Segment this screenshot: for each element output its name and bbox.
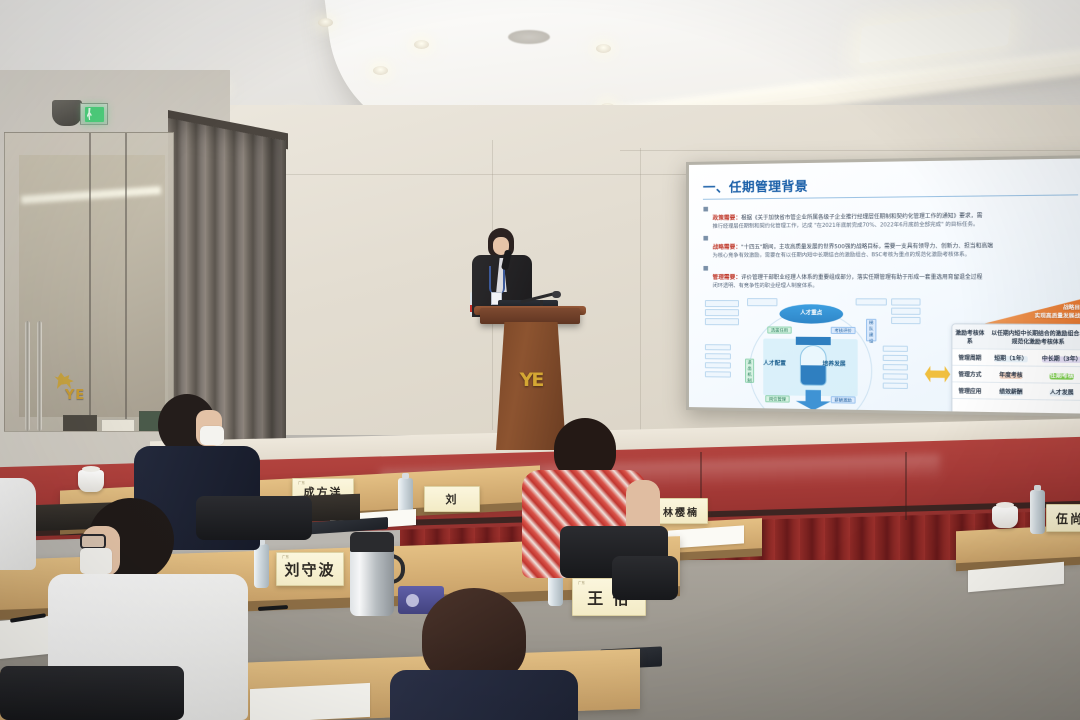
bullet-text: "十四五"期间，主攻高质量发展的世界500强的战略目标，需要一支具有领导力、创新…: [741, 244, 993, 251]
downlight: [414, 40, 429, 49]
namecard-org: 广东: [578, 581, 585, 586]
table-cell: 年度考核: [999, 372, 1022, 379]
side-box: [883, 374, 908, 380]
table-cell: 绩效薪酬: [999, 389, 1022, 396]
attendee-torso: [0, 478, 36, 570]
name-card-text: 林樱楠: [663, 504, 699, 519]
water-bottle: [1030, 490, 1045, 534]
side-box: [705, 353, 731, 359]
stage-seam: [905, 452, 907, 520]
name-card-text: 伍尚: [1056, 510, 1080, 527]
attendee-torso: [390, 670, 578, 720]
tea-cup: [992, 506, 1018, 528]
title-underline: [703, 194, 1078, 199]
bullet-dash-icon: ■: [703, 205, 709, 232]
diagram-tag: 选拔任用: [767, 327, 791, 334]
side-box: [883, 364, 908, 370]
side-box: [891, 299, 920, 306]
bullet-subtext: 推行经理层任期制和契约化管理工作，达成 "在2021年底前完成70%、2022年…: [713, 221, 1080, 232]
slide-title: 一、任期管理背景: [703, 171, 1080, 196]
banner-line-2: 实现高质量发展战略: [1035, 313, 1080, 321]
table-row: 管理方式 年度考核 任期考核: [952, 366, 1080, 384]
slide-bullet: ■ 战略需要："十四五"期间，主攻高质量发展的世界500强的战略目标，需要一支具…: [703, 232, 1080, 261]
strategy-banner-text: 战略目标 实现高质量发展战略: [1035, 305, 1080, 321]
downlight: [596, 44, 611, 53]
chair[interactable]: [612, 556, 678, 600]
table-row-header: 激励考核体系: [952, 325, 987, 350]
bullet-subtext: 闭环透明、有竞争性的职业经理人制度体系。: [713, 283, 1080, 291]
name-card-text: 刘: [446, 491, 459, 507]
slide-body: 人才重点 人才配置 培养发展 日常管理 选拔任用 考核评价 岗位管理 薪酬激励 …: [703, 296, 1080, 414]
projection-screen-frame: 一、任期管理背景 ■ 政策需要：根据《关于加快省市管企业所属各级子企业推行经理层…: [686, 155, 1080, 417]
side-box: [705, 344, 731, 350]
gooseneck-mic-head: [552, 291, 561, 298]
diagram-tag: 考核评价: [831, 327, 856, 334]
slide-bullet: ■ 管理需要：评价管理干部职业经理人体系的重要组成部分，落实任期管理有助于形成一…: [703, 263, 1080, 291]
table-header-value: 以任期内短中长期结合的激励组合、规范化激励考核体系: [987, 325, 1080, 350]
table-cell: 短期（1年）: [994, 356, 1027, 363]
diagram-right-label: 培养发展: [822, 360, 845, 368]
bullet-lead: 管理需要：: [713, 275, 742, 281]
diagram-tag: 梯队建设: [866, 319, 876, 342]
side-box: [891, 317, 920, 324]
side-box: [883, 355, 908, 361]
namecard-org: 广东: [298, 481, 305, 486]
talent-cycle-diagram: 人才重点 人才配置 培养发展 日常管理 选拔任用 考核评价 岗位管理 薪酬激励 …: [703, 296, 924, 414]
bullet-text: 根据《关于加快省市管企业所属各级子企业推行经理层任期制和契约化管理工作的通知》要…: [741, 213, 982, 221]
wall-seam: [620, 150, 1080, 151]
projection-screen: 一、任期管理背景 ■ 政策需要：根据《关于加快省市管企业所属各级子企业推行经理层…: [689, 158, 1080, 414]
eyeglasses: [80, 534, 106, 549]
incentive-panel: 战略目标 实现高质量发展战略 激励考核体系 以任期内短中长期结合的激励组合、规范…: [951, 297, 1080, 414]
bullet-dash-icon: ■: [703, 264, 709, 290]
face-mask: [200, 426, 224, 445]
showcase-brand-label: YE: [65, 388, 117, 408]
bullet-lead: 战略需要：: [713, 245, 742, 251]
namecard-org: 广东: [282, 555, 289, 560]
banner-line-1: 战略目标: [1035, 305, 1080, 313]
bullet-text: 评价管理干部职业经理人体系的重要组成部分，落实任期管理有助于形成一套重选用育留退…: [741, 274, 982, 280]
diagram-tag: 岗位管理: [765, 395, 789, 402]
conference-room-photo: YE 一、任期管理背景 ■ 政策需要：根据《关于加快省市管企业所属各级子企业推行…: [0, 0, 1080, 720]
diagram-tag: 退出机制: [745, 359, 754, 383]
table-cell: 中长期（3年）: [1042, 356, 1080, 363]
side-box: [705, 309, 739, 316]
side-box: [747, 298, 777, 306]
lanyard: [489, 266, 505, 294]
water-bottle: [254, 544, 269, 588]
downlight: [318, 18, 333, 27]
diagram-left-label: 人才配置: [763, 359, 786, 367]
name-card: 广东 刘守波: [276, 552, 344, 586]
table-row: 管理应用 绩效薪酬 人才发展: [952, 382, 1080, 401]
showcase-poster: [101, 419, 135, 432]
tea-cup: [78, 470, 104, 492]
showcase-poster: [63, 415, 97, 432]
door-handle[interactable]: [37, 321, 42, 431]
name-card: 伍尚: [1046, 504, 1080, 532]
bullet-dash-icon: ■: [703, 234, 709, 261]
link-arrow: [924, 297, 952, 414]
double-arrow-icon: [925, 366, 950, 383]
wall-seam: [640, 148, 641, 430]
downlight: [373, 66, 388, 75]
side-box: [883, 346, 908, 352]
side-box: [856, 299, 887, 306]
name-card: 林樱楠: [654, 498, 708, 524]
air-vent: [508, 30, 550, 44]
ceiling-speaker: [52, 100, 82, 126]
side-box: [705, 371, 731, 377]
side-box: [705, 300, 739, 307]
glass-entrance-doors[interactable]: YE: [4, 132, 174, 432]
notepad: [250, 683, 370, 720]
table-row-header: 管理方式: [952, 366, 987, 383]
table-row: 管理周期 短期（1年） 中长期（3年）: [952, 349, 1080, 367]
thermos-lid: [350, 532, 394, 552]
chair[interactable]: [0, 666, 184, 720]
side-box: [883, 383, 908, 390]
door-handle[interactable]: [25, 321, 30, 431]
bullet-lead: 政策需要：: [713, 215, 742, 221]
diagram-tag: 薪酬激励: [831, 396, 856, 404]
table-row-header: 管理应用: [952, 382, 987, 399]
side-box: [705, 318, 739, 325]
podium-top: [480, 308, 580, 324]
podium-logo: YE: [514, 368, 548, 392]
side-box: [705, 362, 731, 368]
chair[interactable]: [196, 496, 312, 540]
table-row: 激励考核体系 以任期内短中长期结合的激励组合、规范化激励考核体系: [952, 325, 1080, 350]
table-row-header: 管理周期: [952, 349, 987, 366]
slide-bullet: ■ 政策需要：根据《关于加快省市管企业所属各级子企业推行经理层任期制和契约化管理…: [703, 201, 1080, 232]
incentive-table: 激励考核体系 以任期内短中长期结合的激励组合、规范化激励考核体系 管理周期 短期…: [951, 324, 1080, 414]
side-box: [891, 308, 920, 315]
name-card-text: 刘守波: [284, 559, 335, 580]
table-cell: 人才发展: [1050, 390, 1074, 397]
exit-sign: [80, 103, 108, 125]
core-bar: [796, 337, 831, 345]
bullet-subtext: 为核心竞争有效激励，需要在有以任期内短中长期结合的激励组合、BSC考核为重点的规…: [713, 252, 1080, 261]
table-cell: 任期考核: [1050, 373, 1074, 380]
door-mullion: [125, 133, 127, 432]
face-mask: [80, 548, 112, 574]
name-card: 刘: [424, 486, 480, 512]
